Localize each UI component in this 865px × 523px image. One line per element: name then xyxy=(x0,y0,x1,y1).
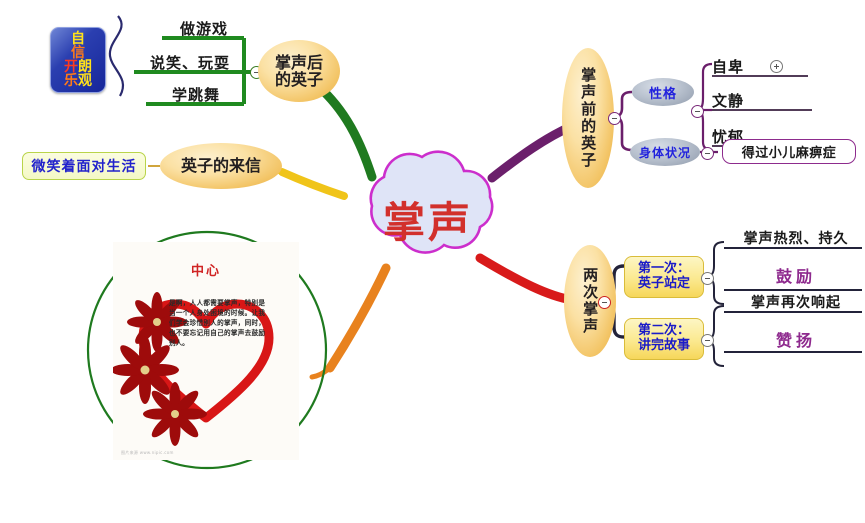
node-letter[interactable]: 英子的来信 xyxy=(160,143,282,189)
mindmap-canvas: 掌声 自 信 开 朗 乐 观 做游戏 说笑、玩耍 学跳舞 掌声后的英子 微笑着面… xyxy=(0,0,865,523)
leaf-first-detail[interactable]: 掌声热烈、持久 xyxy=(730,228,862,248)
leaf-item-learn-dance[interactable]: 学跳舞 xyxy=(144,84,248,104)
leaf-quiet[interactable]: 文静 xyxy=(712,90,766,110)
central-node[interactable]: 掌声 xyxy=(330,163,526,275)
leaf-second-detail[interactable]: 掌声再次响起 xyxy=(730,292,862,312)
event-second-line2: 讲完故事 xyxy=(638,339,690,354)
central-label: 掌声 xyxy=(383,189,473,250)
minus-circle-icon-physical[interactable] xyxy=(701,147,714,160)
node-physical-condition[interactable]: 身体状况 xyxy=(630,138,700,166)
branch-picture xyxy=(330,268,386,368)
minus-circle-icon-second-event[interactable] xyxy=(701,334,714,347)
summary-char-2: 开 xyxy=(64,60,78,74)
node-two-applause-label: 两次掌声 xyxy=(582,267,598,335)
node-before-applause[interactable]: 掌声前的英子 xyxy=(562,48,614,188)
brace-left xyxy=(110,16,123,96)
summary-box-confident[interactable]: 自 信 开 朗 乐 观 xyxy=(50,27,106,93)
minus-circle-icon-first-event[interactable] xyxy=(701,272,714,285)
node-personality[interactable]: 性格 xyxy=(632,78,694,106)
plus-circle-icon-inferior[interactable] xyxy=(770,60,783,73)
picture-body-text: 是啊，人人都需要掌声，特别是当一个人身处困境的时候。让我们学会珍惜别人的掌声，同… xyxy=(169,298,265,418)
leaf-polio[interactable]: 得过小儿麻痹症 xyxy=(722,139,856,164)
summary-char-1: 信 xyxy=(71,46,85,60)
summary-char-3: 朗 xyxy=(78,60,92,74)
leaf-inferior[interactable]: 自卑 xyxy=(712,56,766,76)
leaf-item-make-games[interactable]: 做游戏 xyxy=(160,18,248,38)
leaf-second-meaning[interactable]: 赞扬 xyxy=(730,328,862,350)
summary-char-5: 观 xyxy=(78,74,92,88)
node-after-applause-label: 掌声后的英子 xyxy=(272,54,326,89)
leaf-first-meaning[interactable]: 鼓励 xyxy=(730,264,862,286)
event-box-first[interactable]: 第一次： 英子站定 xyxy=(624,256,704,298)
picture-image: 中心 是啊，人人都需要掌声，特别是当一个人身处困境的时候 xyxy=(113,242,299,460)
event-first-line2: 英子站定 xyxy=(638,277,690,292)
node-after-applause[interactable]: 掌声后的英子 xyxy=(258,40,340,102)
minus-circle-icon-before-applause[interactable] xyxy=(608,112,621,125)
summary-char-0: 自 xyxy=(71,32,85,46)
node-letter-label: 英子的来信 xyxy=(181,157,261,174)
picture-credit: 图片来源 www.nipic.com xyxy=(121,450,174,456)
minus-circle-icon-two-applause[interactable] xyxy=(598,296,611,309)
node-before-applause-label: 掌声前的英子 xyxy=(580,67,596,169)
event-first-line1: 第一次： xyxy=(638,262,690,277)
event-box-second[interactable]: 第二次： 讲完故事 xyxy=(624,318,704,360)
leaf-smile-face-life[interactable]: 微笑着面对生活 xyxy=(22,152,146,180)
event-second-line1: 第二次： xyxy=(638,324,690,339)
summary-char-4: 乐 xyxy=(64,74,78,88)
leaf-item-laugh-play[interactable]: 说笑、玩耍 xyxy=(132,52,248,72)
picture-card[interactable]: 中心 是啊，人人都需要掌声，特别是当一个人身处困境的时候 xyxy=(92,232,322,468)
minus-circle-icon-personality[interactable] xyxy=(691,105,704,118)
